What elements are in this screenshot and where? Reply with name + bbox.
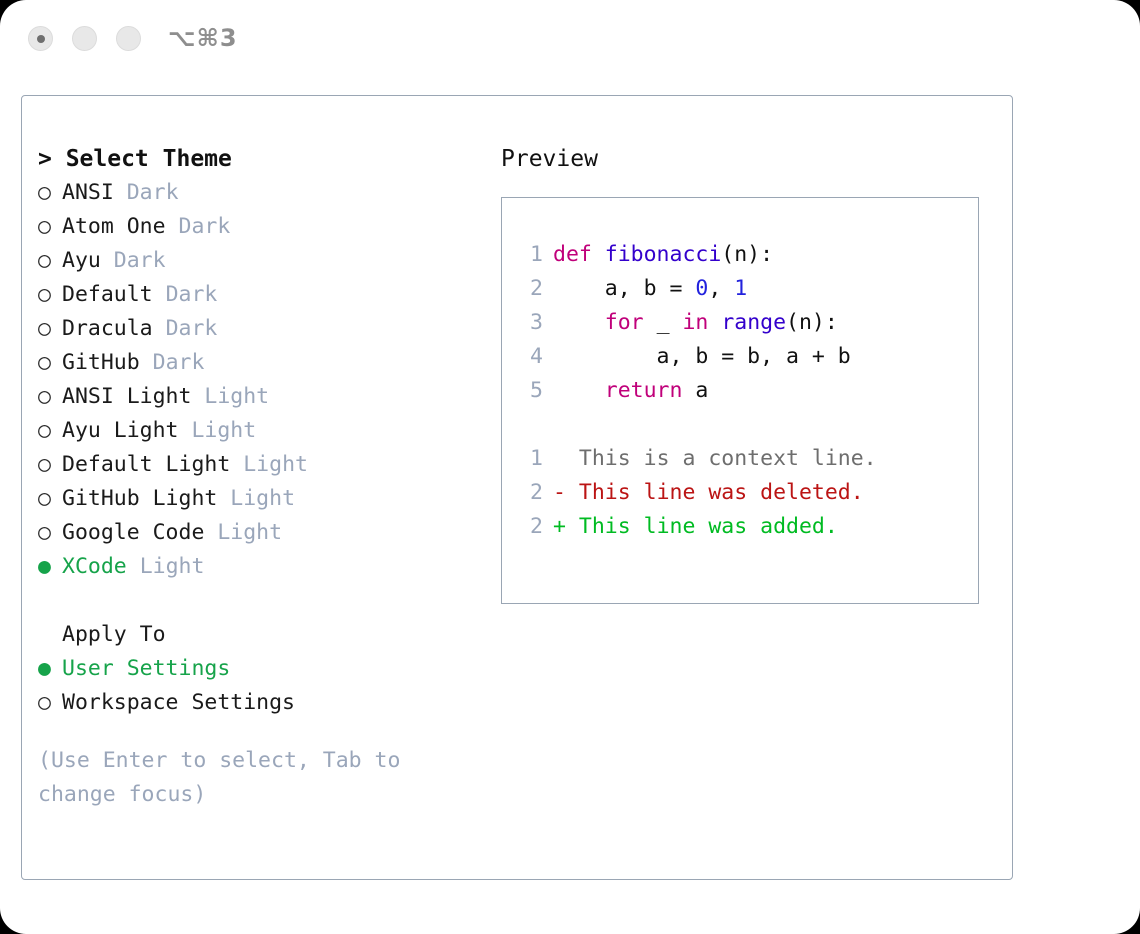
theme-option-label: Atom One <box>62 214 166 239</box>
theme-option-ayu[interactable]: ○Ayu Dark <box>38 244 493 278</box>
theme-option-label: ANSI <box>62 180 114 205</box>
theme-option-tag: Light <box>230 486 295 511</box>
code-token-plain: a <box>682 378 708 403</box>
radio-unselected-icon: ○ <box>38 278 62 312</box>
code-token-kw: return <box>605 378 683 403</box>
diff-line-number: 1 <box>517 442 543 476</box>
code-line-number: 5 <box>517 374 543 408</box>
diff-sign: + <box>553 514 566 539</box>
diff-sign: - <box>553 480 566 505</box>
diff-line-number: 2 <box>517 476 543 510</box>
radio-unselected-icon: ○ <box>38 448 62 482</box>
theme-option-google-code[interactable]: ○Google Code Light <box>38 516 493 550</box>
code-token-kw: for <box>605 310 644 335</box>
code-token-num: 1 <box>734 276 747 301</box>
diff-text: This line was added. <box>579 514 838 539</box>
theme-option-tag: Dark <box>179 214 231 239</box>
code-token-kw: in <box>682 310 708 335</box>
preview-column: Preview 1def fibonacci(n):2 a, b = 0, 13… <box>501 142 1001 604</box>
code-sample: 1def fibonacci(n):2 a, b = 0, 13 for _ i… <box>517 238 851 408</box>
theme-option-label: GitHub Light <box>62 486 217 511</box>
radio-unselected-icon: ○ <box>38 312 62 346</box>
code-token-plain <box>553 310 605 335</box>
theme-option-ansi-light[interactable]: ○ANSI Light Light <box>38 380 493 414</box>
diff-text: This line was deleted. <box>579 480 864 505</box>
select-theme-heading: > Select Theme <box>38 142 493 176</box>
code-token-plain: (n): <box>721 242 773 267</box>
diff-line-number: 2 <box>517 510 543 544</box>
theme-option-label: Ayu <box>62 248 101 273</box>
diff-gap <box>566 446 579 471</box>
theme-option-tag: Light <box>140 554 205 579</box>
radio-unselected-icon: ○ <box>38 210 62 244</box>
diff-line-del: 2- This line was deleted. <box>517 476 877 510</box>
minimize-button[interactable] <box>72 26 97 51</box>
radio-unselected-icon: ○ <box>38 482 62 516</box>
window-title: ⌥⌘3 <box>168 24 238 52</box>
radio-unselected-icon: ○ <box>38 686 62 720</box>
code-line-number: 1 <box>517 238 543 272</box>
preview-box: 1def fibonacci(n):2 a, b = 0, 13 for _ i… <box>501 197 979 604</box>
code-line-number: 4 <box>517 340 543 374</box>
theme-option-dracula[interactable]: ○Dracula Dark <box>38 312 493 346</box>
theme-option-tag: Dark <box>166 282 218 307</box>
theme-option-label: Google Code <box>62 520 204 545</box>
theme-option-tag: Light <box>191 418 256 443</box>
code-token-plain: a, b = <box>553 276 695 301</box>
code-token-fn: fibonacci <box>605 242 722 267</box>
radio-selected-icon: ● <box>38 550 62 584</box>
apply-to-option-user-settings[interactable]: ●User Settings <box>38 652 493 686</box>
theme-option-default-light[interactable]: ○Default Light Light <box>38 448 493 482</box>
apply-to-option-label: User Settings <box>62 656 230 681</box>
code-token-fn: range <box>721 310 786 335</box>
main-panel: > Select Theme ○ANSI Dark○Atom One Dark○… <box>21 95 1013 880</box>
maximize-button[interactable] <box>116 26 141 51</box>
close-dot-icon <box>37 35 45 43</box>
code-token-plain <box>708 310 721 335</box>
code-token-kw: def <box>553 242 605 267</box>
preview-heading: Preview <box>501 142 1001 176</box>
traffic-light-group <box>28 26 141 51</box>
diff-line-ctx: 1 This is a context line. <box>517 442 877 476</box>
theme-option-label: Default <box>62 282 153 307</box>
code-line-number: 3 <box>517 306 543 340</box>
title-bar: ⌥⌘3 <box>0 0 1140 78</box>
theme-option-label: GitHub <box>62 350 140 375</box>
diff-text: This is a context line. <box>579 446 877 471</box>
app-window: ⌥⌘3 > Select Theme ○ANSI Dark○Atom One D… <box>0 0 1140 934</box>
code-token-plain: _ <box>644 310 683 335</box>
theme-option-tag: Dark <box>153 350 205 375</box>
theme-option-label: Dracula <box>62 316 153 341</box>
theme-option-label: Ayu Light <box>62 418 179 443</box>
theme-option-label: ANSI Light <box>62 384 191 409</box>
list-spacer <box>38 584 493 618</box>
code-token-plain: , <box>708 276 734 301</box>
radio-selected-icon: ● <box>38 652 62 686</box>
code-token-num: 0 <box>695 276 708 301</box>
theme-list: ○ANSI Dark○Atom One Dark○Ayu Dark○Defaul… <box>38 176 493 584</box>
theme-option-label: XCode <box>62 554 127 579</box>
apply-to-heading: Apply To <box>38 618 493 652</box>
theme-option-tag: Dark <box>114 248 166 273</box>
radio-unselected-icon: ○ <box>38 176 62 210</box>
theme-option-tag: Dark <box>127 180 179 205</box>
theme-option-xcode[interactable]: ●XCode Light <box>38 550 493 584</box>
code-line-number: 2 <box>517 272 543 306</box>
diff-sample: 1 This is a context line.2- This line wa… <box>517 442 877 544</box>
diff-line-add: 2+ This line was added. <box>517 510 877 544</box>
apply-to-list: ●User Settings○Workspace Settings <box>38 652 493 720</box>
diff-gap <box>566 514 579 539</box>
theme-option-ansi[interactable]: ○ANSI Dark <box>38 176 493 210</box>
diff-gap <box>566 480 579 505</box>
keyboard-hint-text: (Use Enter to select, Tab to change focu… <box>38 744 448 812</box>
code-line: 1def fibonacci(n): <box>517 238 851 272</box>
code-token-plain <box>553 378 605 403</box>
radio-unselected-icon: ○ <box>38 346 62 380</box>
code-line: 3 for _ in range(n): <box>517 306 851 340</box>
code-token-plain: (n): <box>786 310 838 335</box>
close-button[interactable] <box>28 26 53 51</box>
theme-option-default[interactable]: ○Default Dark <box>38 278 493 312</box>
code-line: 4 a, b = b, a + b <box>517 340 851 374</box>
radio-unselected-icon: ○ <box>38 516 62 550</box>
theme-option-github[interactable]: ○GitHub Dark <box>38 346 493 380</box>
theme-option-label: Default Light <box>62 452 230 477</box>
theme-option-tag: Light <box>204 384 269 409</box>
theme-option-tag: Dark <box>166 316 218 341</box>
code-line: 2 a, b = 0, 1 <box>517 272 851 306</box>
code-line: 5 return a <box>517 374 851 408</box>
diff-sign <box>553 446 566 471</box>
theme-option-tag: Light <box>243 452 308 477</box>
radio-unselected-icon: ○ <box>38 244 62 278</box>
radio-unselected-icon: ○ <box>38 380 62 414</box>
code-token-plain: a, b = b, a + b <box>553 344 851 369</box>
theme-option-ayu-light[interactable]: ○Ayu Light Light <box>38 414 493 448</box>
theme-option-tag: Light <box>217 520 282 545</box>
apply-to-option-workspace-settings[interactable]: ○Workspace Settings <box>38 686 493 720</box>
theme-picker-column: > Select Theme ○ANSI Dark○Atom One Dark○… <box>38 142 493 812</box>
radio-unselected-icon: ○ <box>38 414 62 448</box>
theme-option-github-light[interactable]: ○GitHub Light Light <box>38 482 493 516</box>
apply-to-option-label: Workspace Settings <box>62 690 295 715</box>
theme-option-atom-one[interactable]: ○Atom One Dark <box>38 210 493 244</box>
